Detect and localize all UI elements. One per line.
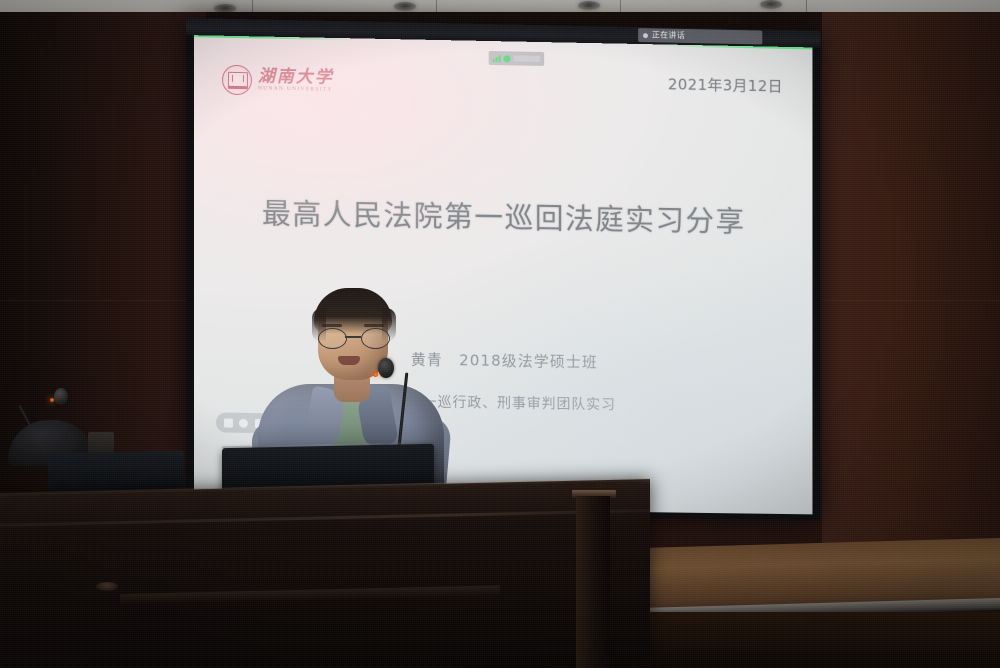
lecture-hall-photo: 湖南大学 HUNAN UNIVERSITY 2021年3月12日 最高人民法院第… bbox=[0, 0, 1000, 668]
wall-panel-right bbox=[822, 12, 1000, 572]
signal-placeholder bbox=[513, 55, 540, 61]
podium-post bbox=[576, 496, 610, 668]
speaking-status-chip: 正在讲话 bbox=[638, 28, 762, 44]
grid-icon[interactable] bbox=[224, 418, 233, 427]
glasses-lens-left bbox=[318, 328, 347, 349]
wall-seam bbox=[0, 300, 190, 301]
ceiling-downlight-icon bbox=[394, 2, 416, 11]
signal-badge bbox=[489, 51, 544, 66]
presenter-mouth bbox=[338, 356, 360, 365]
wall-seam bbox=[822, 300, 1000, 301]
microphone-led-side-icon bbox=[50, 398, 54, 402]
microphone-head-side-icon bbox=[54, 388, 68, 405]
pen-icon[interactable] bbox=[239, 418, 248, 427]
logo-name-en: HUNAN UNIVERSITY bbox=[258, 87, 334, 94]
ceiling-downlight-icon bbox=[760, 0, 782, 9]
slide-date: 2021年3月12日 bbox=[668, 73, 783, 96]
slide-title: 最高人民法院第一巡回法庭实习分享 bbox=[194, 197, 812, 240]
microphone-head-icon bbox=[378, 358, 394, 378]
glasses-bridge bbox=[345, 336, 361, 338]
hunan-university-logo: 湖南大学 HUNAN UNIVERSITY bbox=[222, 65, 334, 97]
university-seal-icon bbox=[222, 65, 252, 96]
signal-bars-icon bbox=[493, 54, 501, 62]
glasses-icon bbox=[316, 328, 390, 348]
glasses-lens-right bbox=[361, 328, 390, 349]
signal-dot-icon bbox=[504, 55, 511, 62]
speaker-dot-icon bbox=[643, 33, 648, 38]
presenter-eyebrow-right bbox=[364, 324, 384, 327]
ceiling-downlight-icon bbox=[578, 1, 600, 10]
presenter-eyebrow-left bbox=[322, 324, 342, 327]
podium-knob-left bbox=[96, 582, 118, 591]
microphone-led-icon bbox=[373, 372, 378, 377]
logo-name-cn: 湖南大学 bbox=[258, 69, 334, 87]
speaking-status-label: 正在讲话 bbox=[652, 31, 685, 40]
